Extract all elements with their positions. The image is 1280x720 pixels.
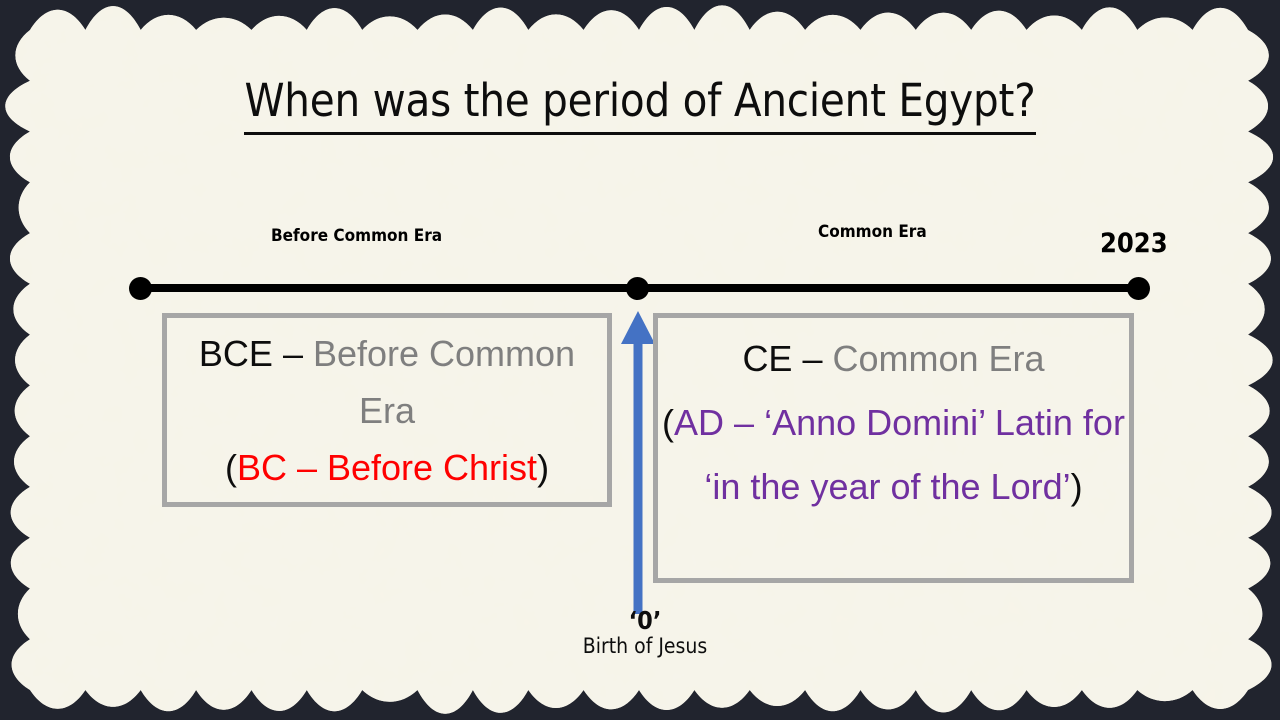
bce-definition-box: BCE – Before Common Era (BC – Before Chr… [162,313,612,507]
timeline-dot-start [129,277,152,300]
ce-alt: AD – ‘Anno Domini’ Latin for ‘in the yea… [674,402,1125,507]
zero-marker-text: ‘0’ [629,606,662,635]
slide-canvas: When was the period of Ancient Egypt? Be… [0,0,1280,720]
timeline-dot-zero [626,277,649,300]
ce-expansion: Common Era [832,338,1044,379]
timeline-label-ce: Common Era [818,222,927,242]
zero-marker-caption-text: Birth of Jesus [583,634,707,658]
ce-abbr: CE – [742,338,832,379]
page-title-text: When was the period of Ancient Egypt? [244,74,1035,135]
bce-paren-close: ) [537,447,549,488]
ce-definition-box: CE – Common Era (AD – ‘Anno Domini’ Lati… [653,313,1134,583]
bce-expansion: Before Common Era [313,333,575,431]
zero-marker-caption: Birth of Jesus [0,634,1280,658]
timeline-dot-end [1127,277,1150,300]
zero-marker-label: ‘0’ [0,606,1280,635]
page-title: When was the period of Ancient Egypt? [0,74,1280,127]
ce-paren-close: ) [1071,466,1083,507]
bce-abbr: BCE – [199,333,313,374]
timeline-label-year: 2023 [1100,228,1168,259]
ce-paren-open: ( [662,402,674,443]
bce-alt: BC – Before Christ [237,447,537,488]
bce-paren-open: ( [225,447,237,488]
timeline-label-bce: Before Common Era [271,226,442,246]
